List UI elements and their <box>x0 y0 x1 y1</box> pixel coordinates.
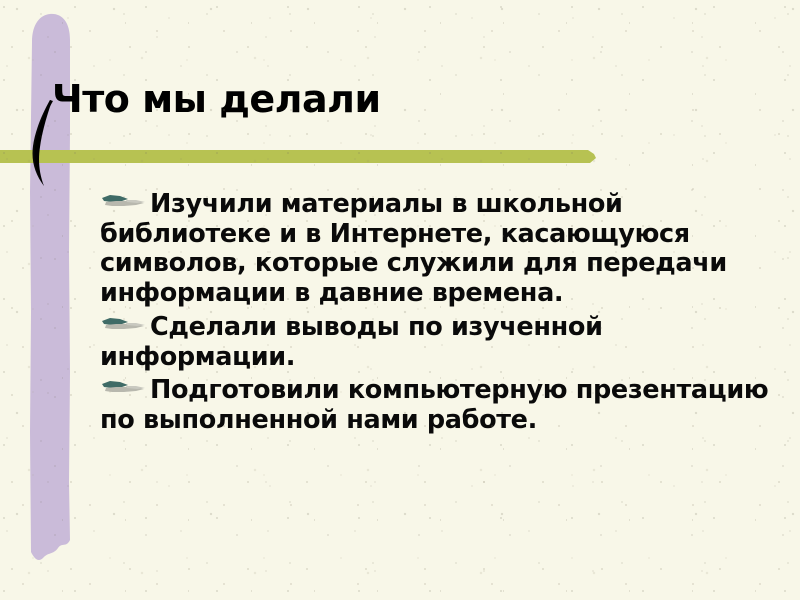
brush-flag-bullet-icon <box>100 316 146 334</box>
brush-flag-bullet-icon <box>100 379 146 397</box>
list-item-text: Сделали выводы по изученной информации. <box>100 312 603 372</box>
brush-flag-bullet-icon <box>100 193 146 211</box>
list-item-text: Подготовили компьютерную презентацию по … <box>100 375 768 435</box>
list-item: Сделали выводы по изученной информации. <box>100 313 790 372</box>
bullet-list: Изучили материалы в школьной библиотеке … <box>100 190 790 438</box>
olive-horizontal-rule <box>0 149 597 166</box>
list-item: Изучили материалы в школьной библиотеке … <box>100 190 790 309</box>
list-item-text: Изучили материалы в школьной библиотеке … <box>100 189 727 308</box>
page-title: Что мы делали <box>52 80 381 120</box>
presentation-slide: Что мы делали Изучили материалы в школьн… <box>0 0 800 600</box>
list-item: Подготовили компьютерную презентацию по … <box>100 376 790 435</box>
